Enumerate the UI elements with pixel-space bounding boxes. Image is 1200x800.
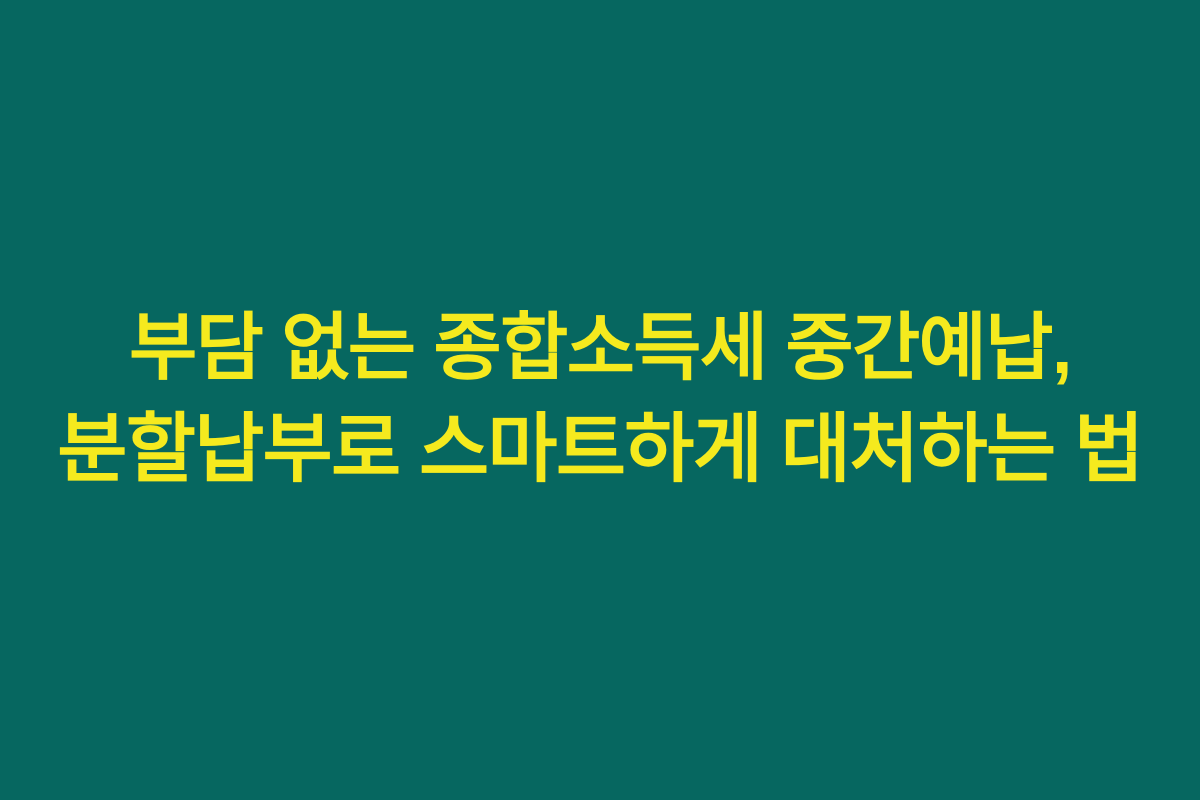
headline-line-2: 분할납부로 스마트하게 대처하는 법 — [10, 399, 1190, 501]
title-card-banner: 부담 없는 종합소득세 중간예납, 분할납부로 스마트하게 대처하는 법 — [0, 0, 1200, 800]
headline-line-1: 부담 없는 종합소득세 중간예납, — [10, 297, 1190, 399]
headline-block: 부담 없는 종합소득세 중간예납, 분할납부로 스마트하게 대처하는 법 — [10, 297, 1190, 501]
